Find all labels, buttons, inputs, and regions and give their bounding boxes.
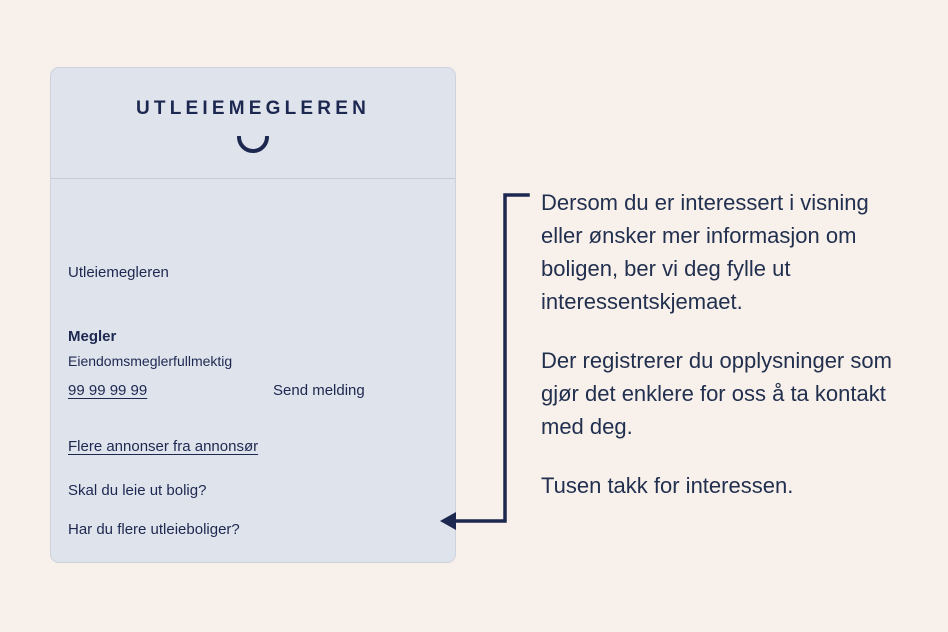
more-ads-from-advertiser-link[interactable]: Flere annonser fra annonsør xyxy=(68,438,258,455)
annotation-paragraph-1: Dersom du er interessert i visning eller… xyxy=(541,186,911,318)
card-body: Utleiemegleren Megler Eiendomsmeglerfull… xyxy=(51,180,455,562)
more-rental-homes-link[interactable]: Har du flere utleieboliger? xyxy=(68,521,240,538)
broker-role-label: Megler xyxy=(68,328,116,345)
annotation-paragraph-2: Der registrerer du opplysninger som gjør… xyxy=(541,344,911,443)
broker-phone-link[interactable]: 99 99 99 99 xyxy=(68,382,147,399)
smile-arc-icon xyxy=(236,136,270,156)
annotation-text-block: Dersom du er interessert i visning eller… xyxy=(541,186,911,502)
rent-out-home-link[interactable]: Skal du leie ut bolig? xyxy=(68,482,206,499)
broker-contact-card: UTLEIEMEGLEREN Utleiemegleren Megler Eie… xyxy=(50,67,456,563)
agency-name: Utleiemegleren xyxy=(68,264,169,281)
screenshot-root: UTLEIEMEGLEREN Utleiemegleren Megler Eie… xyxy=(0,0,948,632)
broker-job-title: Eiendomsmeglerfullmektig xyxy=(68,353,232,369)
annotation-paragraph-3: Tusen takk for interessen. xyxy=(541,469,911,502)
send-message-link[interactable]: Send melding xyxy=(273,382,365,399)
brand-wordmark: UTLEIEMEGLEREN xyxy=(51,98,455,120)
card-header: UTLEIEMEGLEREN xyxy=(51,68,455,179)
